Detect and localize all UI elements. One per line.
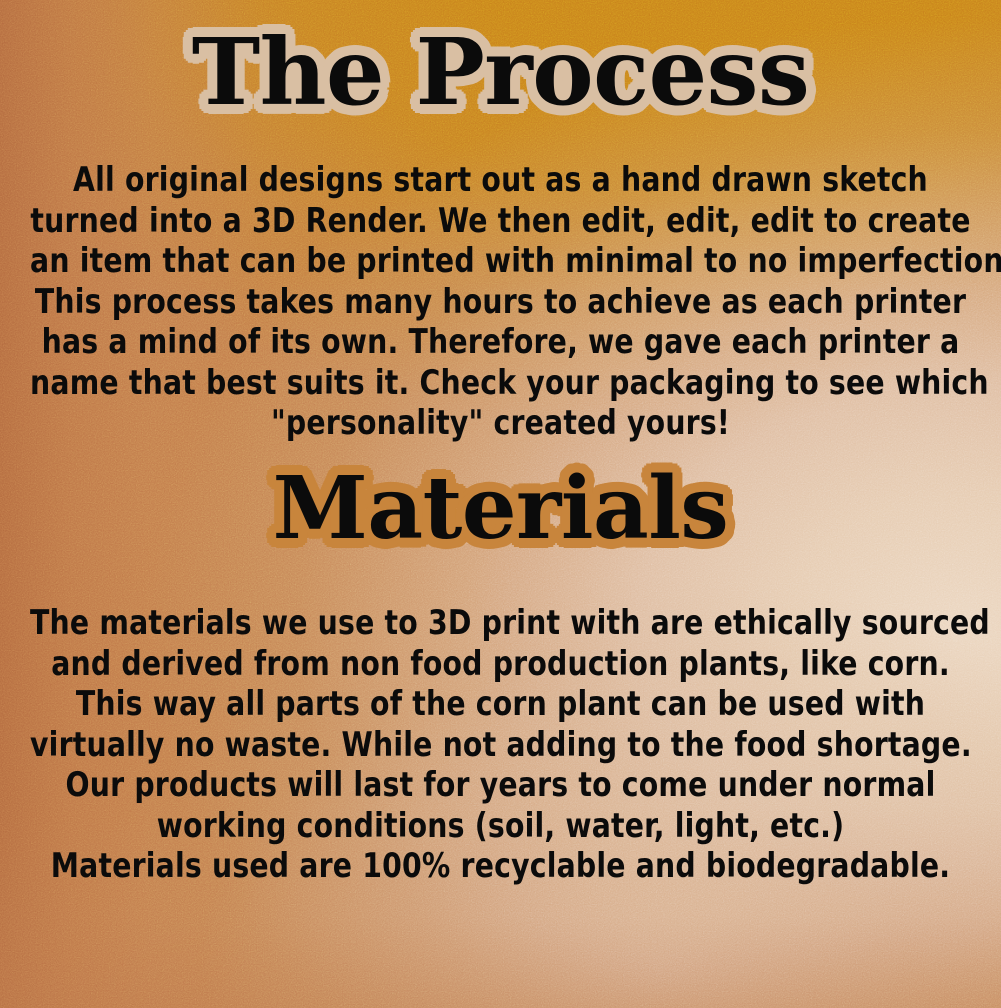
heading-materials: Materials <box>0 466 1001 552</box>
paragraph-materials: The materials we use to 3D print with ar… <box>30 603 971 887</box>
paragraph-line: working conditions (soil, water, light, … <box>30 806 971 847</box>
paragraph-line: This way all parts of the corn plant can… <box>30 684 971 725</box>
paragraph-line: Our products will last for years to come… <box>30 765 971 806</box>
poster-canvas: The Process All original designs start o… <box>0 0 1001 1008</box>
paragraph-line: This process takes many hours to achieve… <box>30 282 971 323</box>
paragraph-line: an item that can be printed with minimal… <box>30 241 971 282</box>
paragraph-process: All original designs start out as a hand… <box>30 160 971 444</box>
paragraph-line: The materials we use to 3D print with ar… <box>30 603 971 644</box>
paragraph-line: name that best suits it. Check your pack… <box>30 363 971 404</box>
paragraph-line: All original designs start out as a hand… <box>30 160 971 201</box>
paragraph-line: and derived from non food production pla… <box>30 644 971 685</box>
poster-content: The Process All original designs start o… <box>0 0 1001 1008</box>
heading-the-process: The Process <box>0 26 1001 118</box>
paragraph-line: virtually no waste. While not adding to … <box>30 725 971 766</box>
paragraph-line: Materials used are 100% recyclable and b… <box>30 846 971 887</box>
paragraph-line: has a mind of its own. Therefore, we gav… <box>30 322 971 363</box>
paragraph-line: turned into a 3D Render. We then edit, e… <box>30 201 971 242</box>
paragraph-line: "personality" created yours! <box>30 403 971 444</box>
